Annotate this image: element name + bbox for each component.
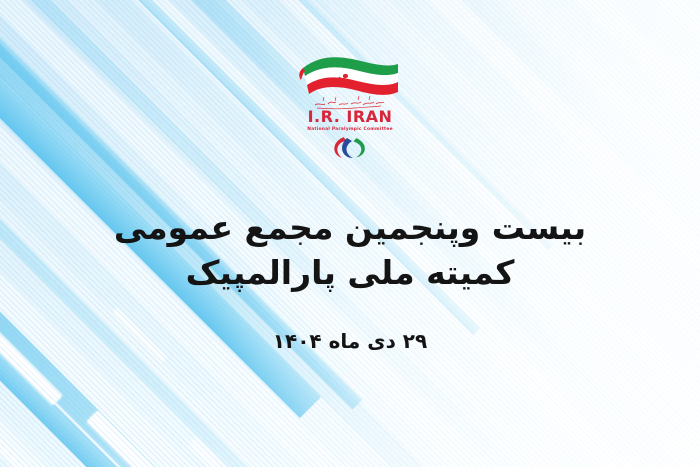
- paralympic-agitos-icon: [332, 137, 367, 159]
- poster-content: I.R. IRAN National Paralympic Committee …: [0, 0, 700, 467]
- headline-line-2: کمیته ملی پارالمپیک: [114, 251, 586, 296]
- npc-iran-logo: I.R. IRAN National Paralympic Committee: [295, 44, 405, 164]
- logo-subtitle: National Paralympic Committee: [307, 126, 393, 132]
- headline-line-1: بیست وپنجمین مجمع عمومی: [114, 206, 586, 251]
- iran-flag-wave-icon: [299, 57, 398, 95]
- poster-canvas: I.R. IRAN National Paralympic Committee …: [0, 0, 700, 467]
- logo-wordmark: I.R. IRAN: [308, 107, 393, 126]
- headline-block: بیست وپنجمین مجمع عمومی کمیته ملی پارالم…: [114, 206, 586, 295]
- event-date: ۲۹ دی ماه ۱۴۰۴: [273, 329, 427, 353]
